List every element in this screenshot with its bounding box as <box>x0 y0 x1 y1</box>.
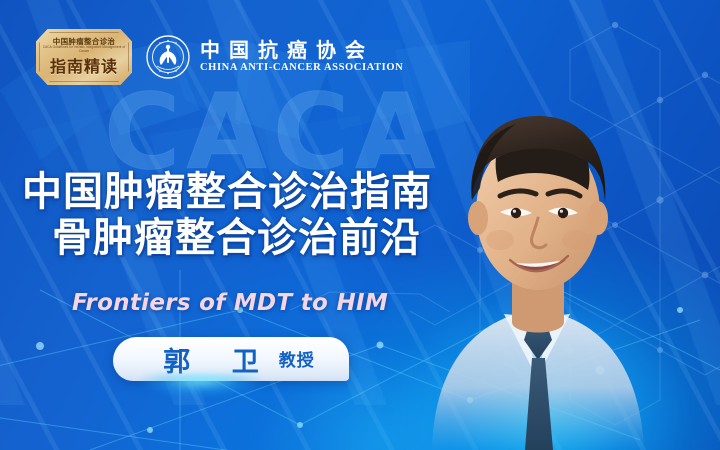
speaker-nameplate: 郭 卫 教授 <box>113 337 349 381</box>
title-block: 中国肿瘤整合诊治指南 骨肿瘤整合诊治前沿 <box>0 170 480 261</box>
association-logo: 中国抗癌协会 CHINA ANTI-CANCER ASSOCIATION <box>146 35 403 79</box>
header-bar: 中国肿瘤整合诊治 CACA Guidelines for Holistic In… <box>0 26 403 88</box>
association-chinese-name: 中国抗癌协会 <box>200 40 403 61</box>
poster-root: CACA <box>0 0 720 450</box>
association-text-block: 中国抗癌协会 CHINA ANTI-CANCER ASSOCIATION <box>200 40 403 74</box>
badge-main-text: 指南精读 <box>36 53 132 77</box>
speaker-title: 教授 <box>279 346 315 373</box>
page-title-line2: 骨肿瘤整合诊治前沿 <box>0 216 480 262</box>
badge-english-text: CACA Guidelines for Holistic Integrative… <box>40 45 128 53</box>
guide-reading-badge: 中国肿瘤整合诊治 CACA Guidelines for Holistic In… <box>36 29 132 85</box>
page-subtitle: Frontiers of MDT to HIM <box>0 290 460 316</box>
caca-circular-emblem <box>146 35 190 79</box>
speaker-name: 郭 卫 <box>147 340 274 379</box>
page-title-line1: 中国肿瘤整合诊治指南 <box>0 170 480 216</box>
speaker-portrait <box>412 78 662 450</box>
association-english-name: CHINA ANTI-CANCER ASSOCIATION <box>200 62 403 74</box>
